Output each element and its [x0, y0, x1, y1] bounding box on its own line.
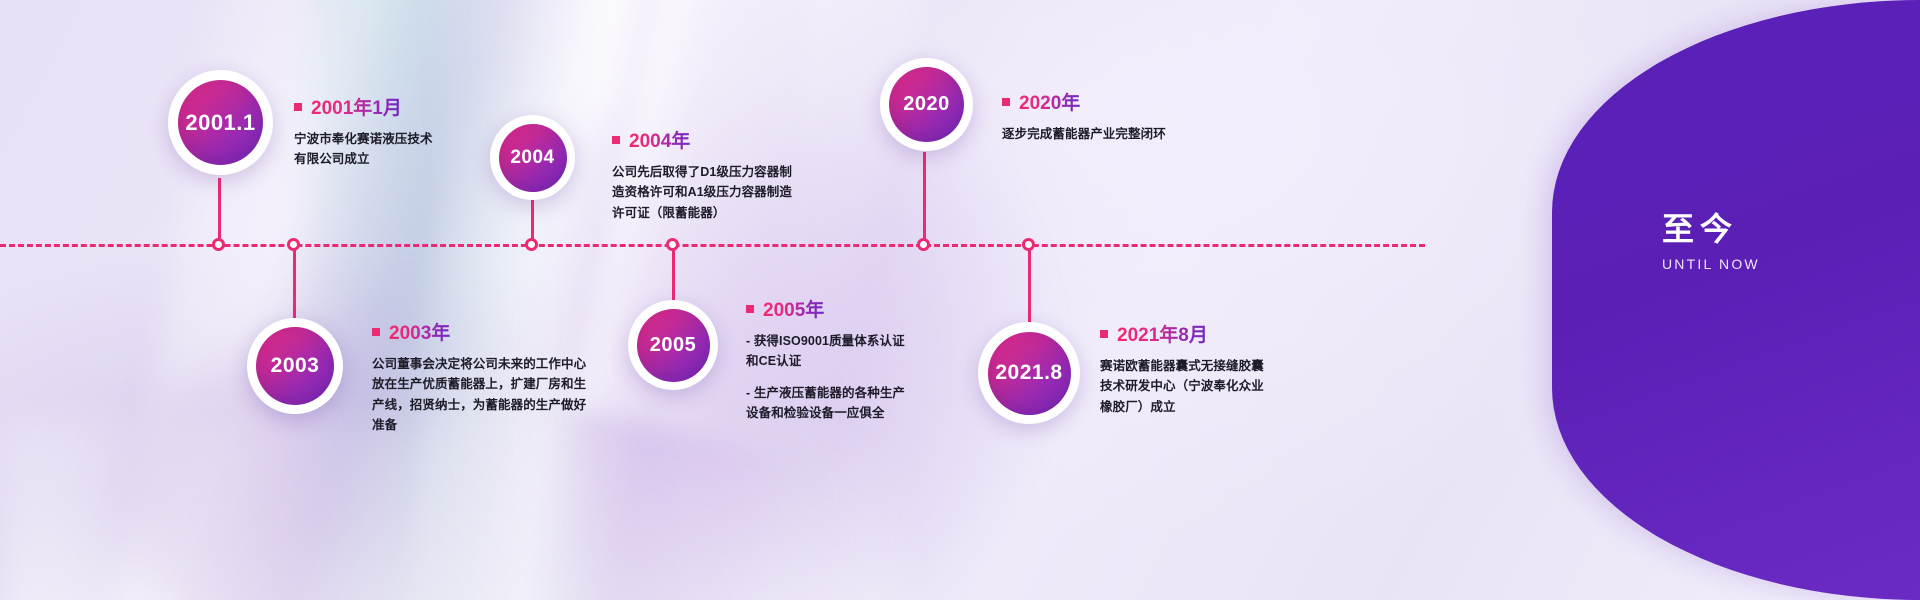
milestone-circle-label: 2020	[889, 67, 964, 142]
milestone-body: - 获得ISO9001质量体系认证 和CE认证 - 生产液压蓄能器的各种生产 设…	[746, 331, 966, 423]
until-now-title-cn: 至今	[1662, 212, 1760, 247]
connector-stem-2001-1	[218, 178, 221, 246]
milestone-body: 公司董事会决定将公司未来的工作中心 放在生产优质蓄能器上，扩建厂房和生 产线，招…	[372, 354, 602, 435]
milestone-body-paragraph: 公司先后取得了D1级压力容器制 造资格许可和A1级压力容器制造 许可证（限蓄能器…	[612, 162, 827, 223]
timeline-node-2001-1	[212, 238, 225, 251]
milestone-title: 2004年	[629, 126, 690, 153]
connector-stem-2005	[672, 244, 675, 302]
milestone-text-2021-8: 2021年8月 赛诺欧蓄能器囊式无接缝胶囊 技术研发中心（宁波奉化众业 橡胶厂）…	[1100, 320, 1315, 417]
milestone-heading: 2005年	[746, 295, 966, 322]
timeline-node-2021-8	[1022, 238, 1035, 251]
milestone-circle-2005[interactable]: 2005	[628, 300, 718, 390]
milestone-circle-label: 2003	[256, 327, 334, 405]
milestone-text-2003: 2003年 公司董事会决定将公司未来的工作中心 放在生产优质蓄能器上，扩建厂房和…	[372, 318, 602, 435]
milestone-title: 2020年	[1019, 88, 1080, 115]
bullet-icon	[1002, 98, 1010, 106]
background-swirl	[0, 420, 900, 600]
milestone-text-2001-1: 2001年1月 宁波市奉化赛诺液压技术 有限公司成立	[294, 93, 494, 170]
milestone-circle-label: 2001.1	[178, 80, 263, 165]
timeline-infographic: 2001.1 2003 2004 2005 2020 2021.8 2001年1…	[0, 0, 1920, 600]
milestone-text-2005: 2005年 - 获得ISO9001质量体系认证 和CE认证 - 生产液压蓄能器的…	[746, 295, 966, 423]
milestone-body: 逐步完成蓄能器产业完整闭环	[1002, 124, 1252, 144]
milestone-body: 宁波市奉化赛诺液压技术 有限公司成立	[294, 129, 494, 170]
until-now-panel: 至今 UNTIL NOW	[1552, 0, 1920, 600]
timeline-node-2005	[666, 238, 679, 251]
milestone-title: 2021年8月	[1117, 320, 1208, 347]
milestone-heading: 2003年	[372, 318, 602, 345]
milestone-circle-2001-1[interactable]: 2001.1	[168, 70, 273, 175]
milestone-text-2004: 2004年 公司先后取得了D1级压力容器制 造资格许可和A1级压力容器制造 许可…	[612, 126, 827, 223]
milestone-circle-label: 2005	[637, 309, 710, 382]
milestone-text-2020: 2020年 逐步完成蓄能器产业完整闭环	[1002, 88, 1252, 144]
milestone-title: 2001年1月	[311, 93, 402, 120]
bullet-icon	[612, 136, 620, 144]
milestone-circle-2003[interactable]: 2003	[247, 318, 343, 414]
bullet-icon	[746, 305, 754, 313]
bullet-icon	[1100, 330, 1108, 338]
timeline-node-2003	[287, 238, 300, 251]
milestone-heading: 2001年1月	[294, 93, 494, 120]
milestone-circle-2021-8[interactable]: 2021.8	[978, 322, 1080, 424]
milestone-body-paragraph: - 获得ISO9001质量体系认证 和CE认证	[746, 331, 966, 372]
connector-stem-2020	[923, 152, 926, 246]
connector-stem-2021-8	[1028, 244, 1031, 322]
bullet-icon	[372, 328, 380, 336]
milestone-body-paragraph: 逐步完成蓄能器产业完整闭环	[1002, 124, 1252, 144]
milestone-heading: 2020年	[1002, 88, 1252, 115]
milestone-circle-2020[interactable]: 2020	[880, 58, 973, 151]
milestone-body-paragraph: 赛诺欧蓄能器囊式无接缝胶囊 技术研发中心（宁波奉化众业 橡胶厂）成立	[1100, 356, 1315, 417]
milestone-circle-label: 2004	[499, 124, 567, 192]
bullet-icon	[294, 103, 302, 111]
milestone-circle-2004[interactable]: 2004	[490, 115, 575, 200]
milestone-body-paragraph: 公司董事会决定将公司未来的工作中心 放在生产优质蓄能器上，扩建厂房和生 产线，招…	[372, 354, 602, 435]
milestone-body-paragraph: - 生产液压蓄能器的各种生产 设备和检验设备一应俱全	[746, 383, 966, 424]
milestone-body-paragraph: 宁波市奉化赛诺液压技术 有限公司成立	[294, 129, 494, 170]
timeline-node-2004	[525, 238, 538, 251]
milestone-circle-label: 2021.8	[988, 332, 1071, 415]
milestone-body: 公司先后取得了D1级压力容器制 造资格许可和A1级压力容器制造 许可证（限蓄能器…	[612, 162, 827, 223]
milestone-title: 2005年	[763, 295, 824, 322]
background-swirl	[294, 0, 606, 600]
connector-stem-2003	[293, 244, 296, 318]
until-now-title-en: UNTIL NOW	[1662, 256, 1760, 272]
timeline-node-2020	[917, 238, 930, 251]
milestone-title: 2003年	[389, 318, 450, 345]
milestone-heading: 2021年8月	[1100, 320, 1315, 347]
milestone-body: 赛诺欧蓄能器囊式无接缝胶囊 技术研发中心（宁波奉化众业 橡胶厂）成立	[1100, 356, 1315, 417]
milestone-heading: 2004年	[612, 126, 827, 153]
